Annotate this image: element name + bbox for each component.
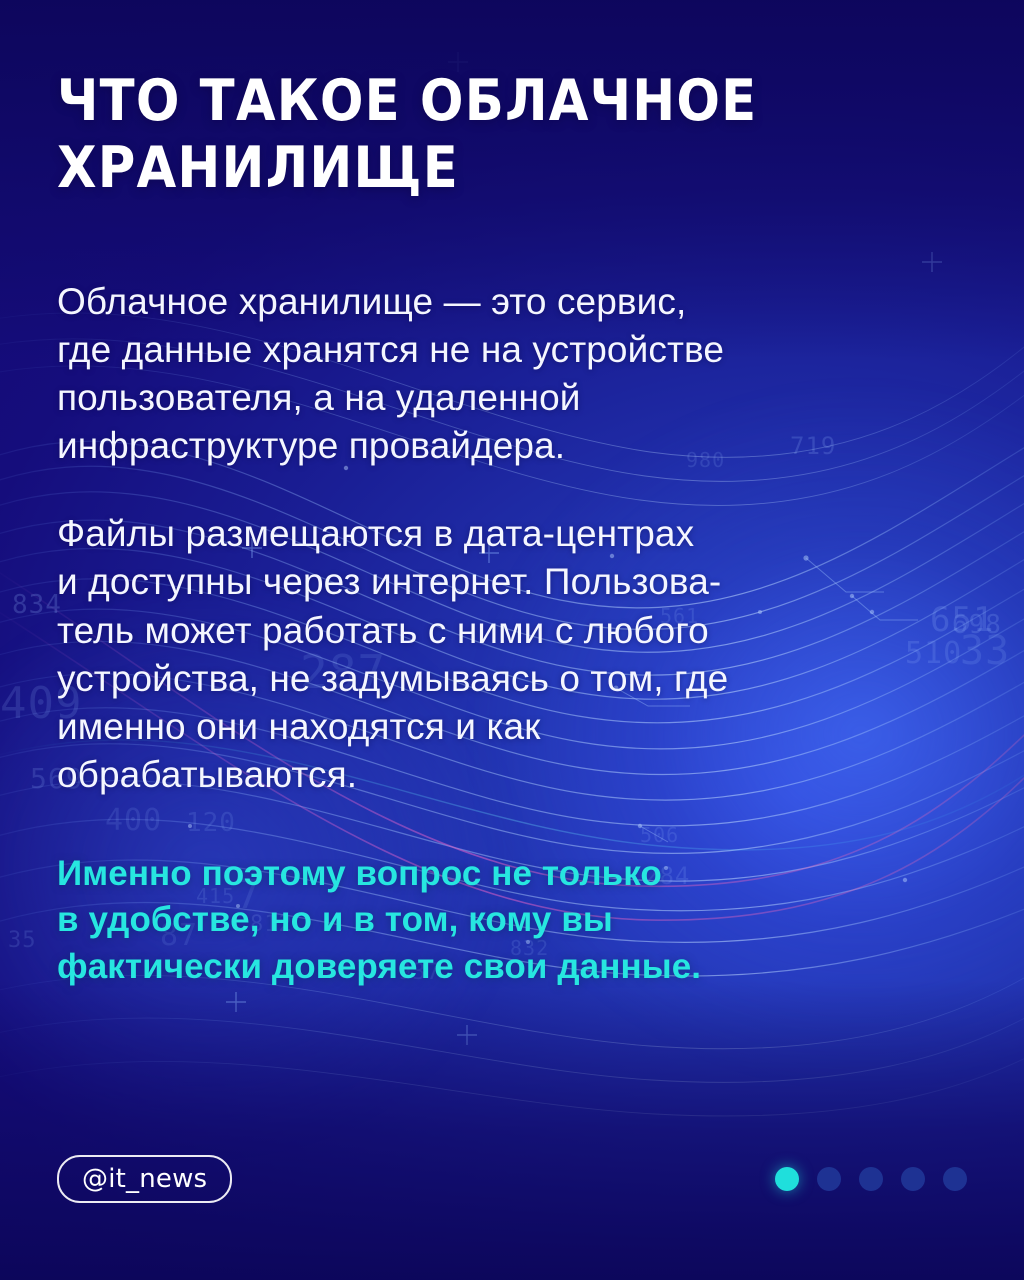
paragraph-line: Именно поэтому вопрос не только (57, 851, 957, 898)
pagination-dots[interactable] (775, 1167, 967, 1191)
paragraph-definition: Облачное хранилище — это сервис,где данн… (57, 278, 957, 470)
slide-content: ЧТО ТАКОЕ ОБЛАЧНОЕХРАНИЛИЩЕ Облачное хра… (0, 0, 1024, 1280)
paragraph-line: фактически доверяете свои данные. (57, 944, 957, 991)
slide-footer: @it_news (57, 1156, 967, 1202)
paragraph-line: пользователя, а на удаленной (57, 374, 957, 422)
page-title: ЧТО ТАКОЕ ОБЛАЧНОЕХРАНИЛИЩЕ (57, 68, 937, 201)
title-line: ЧТО ТАКОЕ ОБЛАЧНОЕ (57, 68, 937, 135)
paragraph-how-it-works: Файлы размещаются в дата-центрахи доступ… (57, 510, 957, 799)
paragraph-line: и доступны через интернет. Пользова- (57, 558, 957, 606)
paragraph-line: в удобстве, но и в том, кому вы (57, 897, 957, 944)
paragraph-conclusion: Именно поэтому вопрос не тольков удобств… (57, 851, 957, 991)
paragraph-line: Файлы размещаются в дата-центрах (57, 510, 957, 558)
paragraph-line: устройства, не задумываясь о том, где (57, 655, 957, 703)
slide-canvas: 8347199802874096513369851056156940012050… (0, 0, 1024, 1280)
paragraph-line: Облачное хранилище — это сервис, (57, 278, 957, 326)
pagination-dot-active[interactable] (775, 1167, 799, 1191)
paragraph-line: тель может работать с ними с любого (57, 607, 957, 655)
paragraph-line: именно они находятся и как (57, 703, 957, 751)
paragraph-line: обрабатываются. (57, 751, 957, 799)
body-copy: Облачное хранилище — это сервис,где данн… (57, 278, 957, 991)
paragraph-line: где данные хранятся не на устройстве (57, 326, 957, 374)
pagination-dot[interactable] (859, 1167, 883, 1191)
title-line: ХРАНИЛИЩЕ (57, 135, 937, 202)
channel-handle-badge[interactable]: @it_news (57, 1155, 232, 1203)
paragraph-line: инфраструктуре провайдера. (57, 422, 957, 470)
pagination-dot[interactable] (901, 1167, 925, 1191)
pagination-dot[interactable] (817, 1167, 841, 1191)
pagination-dot[interactable] (943, 1167, 967, 1191)
paragraph-spacer (57, 839, 957, 851)
